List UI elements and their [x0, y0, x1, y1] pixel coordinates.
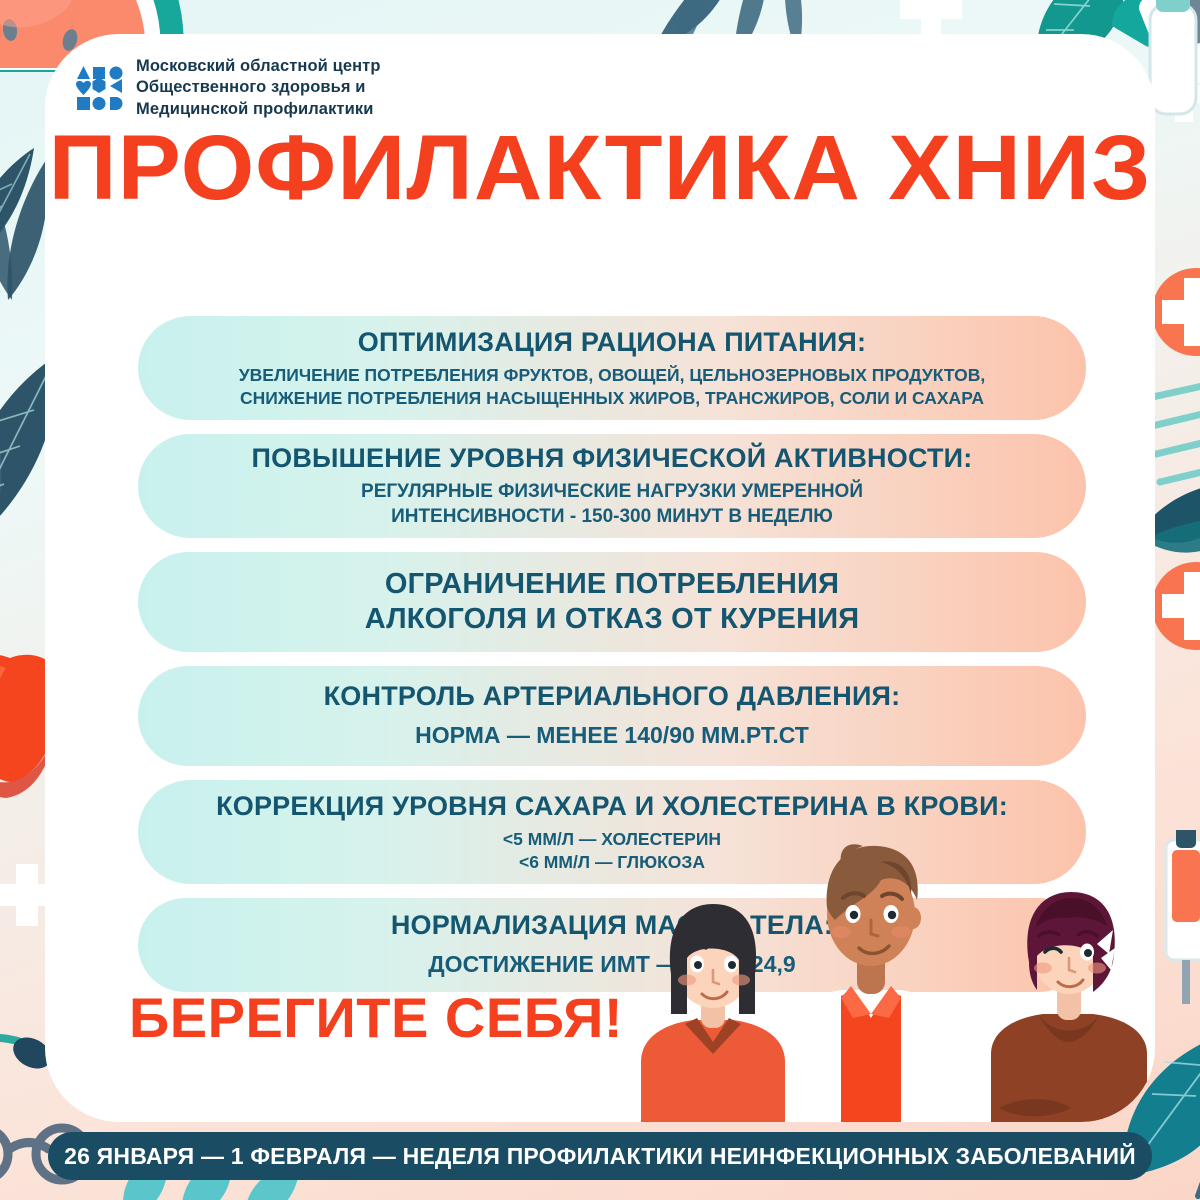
footer-banner: 26 ЯНВАРЯ — 1 ФЕВРАЛЯ — НЕДЕЛЯ ПРОФИЛАКТ… — [48, 1132, 1152, 1180]
list-item: ПОВЫШЕНИЕ УРОВНЯ ФИЗИЧЕСКОЙ АКТИВНОСТИ: … — [138, 434, 1086, 538]
leaf-icon — [1188, 1092, 1200, 1200]
card-heading: КОНТРОЛЬ АРТЕРИАЛЬНОГО ДАВЛЕНИЯ: — [208, 681, 1016, 712]
poster-root: Московский областной центр Общественного… — [0, 0, 1200, 1200]
card-body: УВЕЛИЧЕНИЕ ПОТРЕБЛЕНИЯ ФРУКТОВ, ОВОЩЕЙ, … — [208, 364, 1016, 410]
medical-cross-icon — [1150, 266, 1200, 358]
card-heading: КОРРЕКЦИЯ УРОВНЯ САХАРА И ХОЛЕСТЕРИНА В … — [208, 791, 1016, 822]
list-item: КОНТРОЛЬ АРТЕРИАЛЬНОГО ДАВЛЕНИЯ: НОРМА —… — [138, 666, 1086, 766]
man-doctor-avatar — [797, 844, 945, 1122]
card-body: НОРМА — МЕНЕЕ 140/90 ММ.РТ.СТ — [208, 721, 1016, 751]
card-heading: ОГРАНИЧЕНИЕ ПОТРЕБЛЕНИЯ АЛКОГОЛЯ И ОТКАЗ… — [208, 567, 1016, 638]
slogan-text: БЕРЕГИТЕ СЕБЯ! — [129, 990, 623, 1046]
organization-logo: Московский областной центр Общественного… — [75, 56, 381, 120]
card-heading: ПОВЫШЕНИЕ УРОВНЯ ФИЗИЧЕСКОЙ АКТИВНОСТИ: — [208, 443, 1016, 474]
woman-black-bob-avatar — [641, 904, 785, 1122]
card-body: РЕГУЛЯРНЫЕ ФИЗИЧЕСКИЕ НАГРУЗКИ УМЕРЕННОЙ… — [208, 480, 1016, 529]
page-title: ПРОФИЛАКТИКА ХНИЗ — [45, 122, 1155, 214]
organization-name: Московский областной центр Общественного… — [136, 56, 381, 120]
characters-illustration — [601, 822, 1155, 1122]
shapes-grid-logo-icon — [75, 64, 123, 112]
content-panel: Московский областной центр Общественного… — [45, 34, 1155, 1122]
card-heading: ОПТИМИЗАЦИЯ РАЦИОНА ПИТАНИЯ: — [208, 327, 1016, 358]
woman-purple-hair-avatar — [991, 892, 1147, 1122]
list-item: ОПТИМИЗАЦИЯ РАЦИОНА ПИТАНИЯ: УВЕЛИЧЕНИЕ … — [138, 316, 1086, 420]
list-item: ОГРАНИЧЕНИЕ ПОТРЕБЛЕНИЯ АЛКОГОЛЯ И ОТКАЗ… — [138, 552, 1086, 652]
